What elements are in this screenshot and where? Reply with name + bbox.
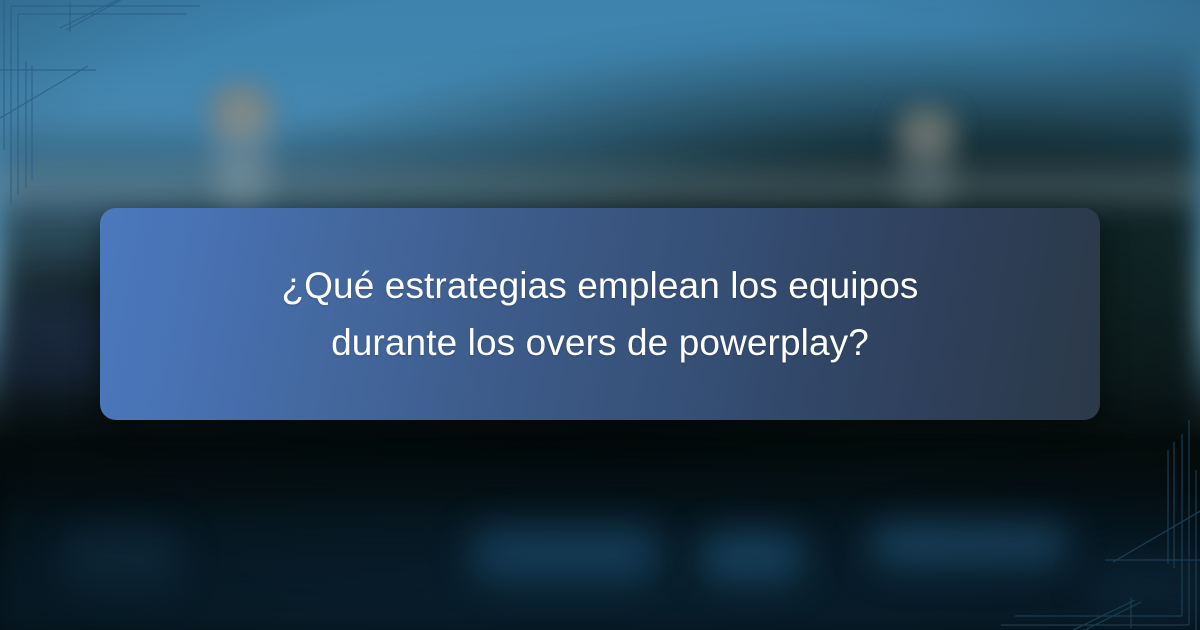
quote-card-graphic: ¿Qué estrategias emplean los equipos dur… bbox=[0, 0, 1200, 630]
quote-text: ¿Qué estrategias emplean los equipos dur… bbox=[250, 257, 950, 371]
quote-card: ¿Qué estrategias emplean los equipos dur… bbox=[100, 208, 1100, 420]
